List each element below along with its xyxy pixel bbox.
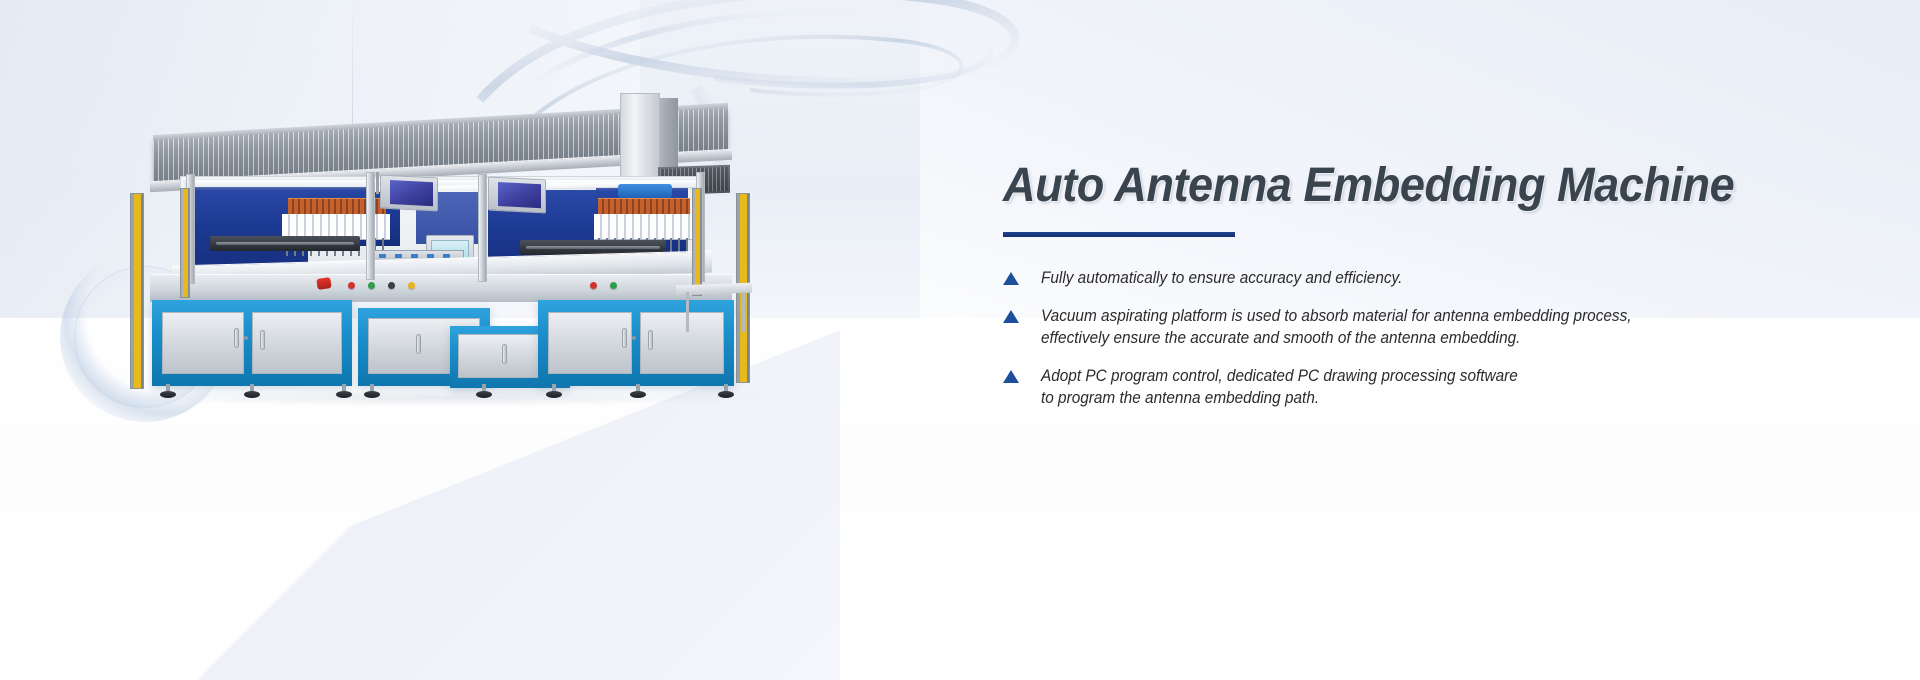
leveling-foot-7 [630, 384, 646, 398]
cabinet-handle-6 [648, 330, 653, 350]
cabinet-door-2 [252, 312, 342, 374]
safety-light-curtain-inner-left [180, 188, 190, 298]
product-banner: Auto Antenna Embedding Machine Fully aut… [0, 0, 1920, 680]
feature-item-2-text: Vacuum aspirating platform is used to ab… [1041, 305, 1632, 349]
cabinet-handle-4 [502, 344, 507, 364]
indicator-lamp-yellow [408, 282, 415, 289]
leveling-foot-8 [718, 384, 734, 398]
exit-conveyor-leg-1 [686, 292, 689, 332]
leveling-foot-4 [364, 384, 380, 398]
linear-rail-left [210, 236, 360, 251]
frame-post-2 [366, 172, 375, 280]
cabinet-handle-5 [622, 328, 627, 348]
safety-light-curtain-left [130, 193, 144, 389]
safety-light-curtain-inner-right [692, 188, 702, 296]
feature-item-2: Vacuum aspirating platform is used to ab… [1003, 305, 1883, 349]
cabinet-handle-2 [260, 330, 265, 350]
cabinet-lock-1 [244, 336, 248, 340]
base-cabinet-left [152, 300, 352, 386]
cabinet-handle-1 [234, 328, 239, 348]
blue-manifold-cap [618, 184, 672, 198]
cabinet-handle-3 [416, 334, 421, 354]
base-cabinet-right [538, 300, 734, 386]
banner-content: Auto Antenna Embedding Machine Fully aut… [1003, 158, 1883, 425]
feature-list: Fully automatically to ensure accuracy a… [1003, 267, 1883, 409]
triangle-up-icon [1003, 370, 1019, 383]
leveling-foot-2 [244, 384, 260, 398]
leveling-foot-5 [476, 384, 492, 398]
feature-item-3-text: Adopt PC program control, dedicated PC d… [1041, 365, 1518, 409]
monitor-arm-left [376, 172, 379, 194]
feature-item-3: Adopt PC program control, dedicated PC d… [1003, 365, 1883, 409]
gantry-tower [620, 93, 660, 189]
feature-item-1: Fully automatically to ensure accuracy a… [1003, 267, 1883, 289]
monitor-right-screen [498, 182, 541, 208]
indicator-lamp-black [388, 282, 395, 289]
leveling-foot-1 [160, 384, 176, 398]
leveling-foot-6 [546, 384, 562, 398]
gantry-tower-inner [660, 98, 678, 170]
cabinet-door-1 [162, 312, 244, 374]
frame-post-3 [478, 174, 487, 282]
copper-terminal-block-right [598, 198, 690, 214]
triangle-up-icon [1003, 310, 1019, 323]
indicator-lamp-red-2 [590, 282, 597, 289]
machine-control-band [150, 274, 732, 302]
indicator-lamp-green-2 [610, 282, 617, 289]
triangle-up-icon [1003, 272, 1019, 285]
exit-conveyor-leg-2 [742, 292, 745, 332]
title-divider [1003, 232, 1235, 237]
indicator-lamp-green [368, 282, 375, 289]
feature-item-1-text: Fully automatically to ensure accuracy a… [1041, 267, 1402, 289]
embedding-head-array-right [594, 214, 694, 240]
cabinet-lock-2 [632, 336, 636, 340]
cabinet-door-5 [548, 312, 632, 374]
monitor-left-screen [390, 180, 433, 206]
emergency-stop-button [316, 277, 331, 290]
page-title: Auto Antenna Embedding Machine [1003, 158, 1830, 214]
monitor-left [380, 174, 438, 211]
product-photo-machine [120, 88, 760, 398]
monitor-right [488, 176, 546, 213]
indicator-lamp-red [348, 282, 355, 289]
leveling-foot-3 [336, 384, 352, 398]
